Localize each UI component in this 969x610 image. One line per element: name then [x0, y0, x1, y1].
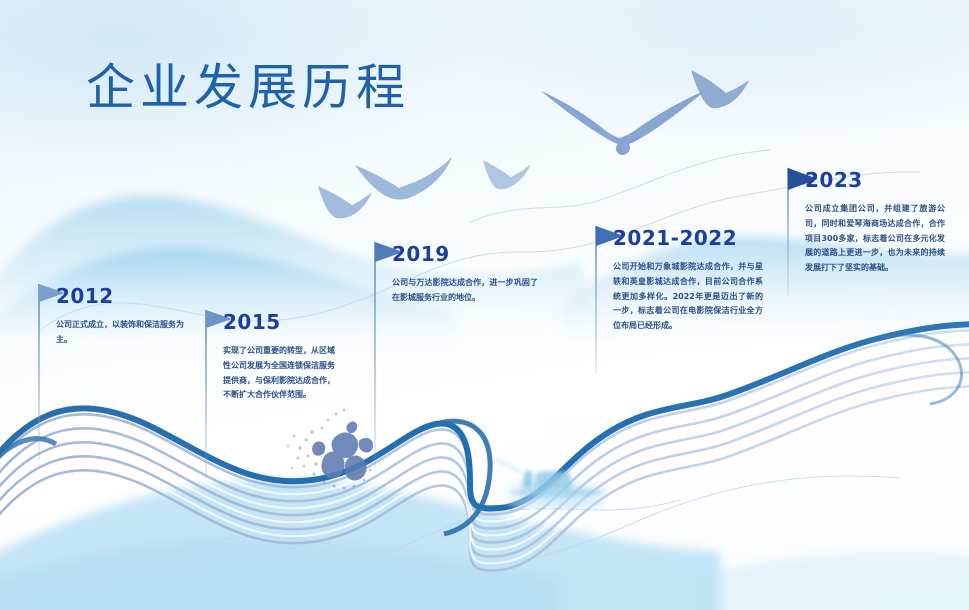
milestone-year: 2015: [223, 310, 281, 334]
milestone-year: 2021-2022: [613, 226, 737, 250]
seagull-large: [541, 90, 706, 155]
milestone-2012[interactable]: 2012 公司正式成立，以装饰和保洁服务为主。: [38, 284, 188, 348]
seagull-top-right: [691, 70, 749, 108]
milestone-2015[interactable]: 2015 实现了公司重要的转型，从区域性公司发展为全国连锁保洁服务提供商，与保利…: [205, 310, 355, 403]
milestone-year: 2023: [805, 168, 863, 192]
milestone-description: 公司成立集团公司，并组建了旅游公司，同时和爱琴海商场达成合作，合作项目300多家…: [805, 202, 945, 276]
milestone-year: 2019: [392, 242, 450, 266]
timeline-poster: 企业发展历程 2012 公司正式成立，以装饰和保洁服务为主。 2015 实现了公…: [0, 0, 969, 610]
milestone-2023[interactable]: 2023 公司成立集团公司，并组建了旅游公司，同时和爱琴海商场达成合作，合作项目…: [787, 168, 955, 276]
milestone-description: 公司与万达影院达成合作，进一步巩固了在影城服务行业的地位。: [392, 276, 538, 306]
milestone-2019[interactable]: 2019 公司与万达影院达成合作，进一步巩固了在影城服务行业的地位。: [374, 242, 544, 306]
seagull-medium-left: [355, 157, 452, 200]
particle-runner-icon: [287, 409, 375, 489]
milestone-description: 公司开始和万象城影院达成合作，并与星轶和英皇影城达成合作，目前公司合作系统更加多…: [613, 260, 763, 334]
mountain-wash-bottom-right: [700, 552, 969, 610]
milestone-description: 实现了公司重要的转型，从区域性公司发展为全国连锁保洁服务提供商，与保利影院达成合…: [223, 344, 335, 403]
mountain-wash-bottom: [0, 479, 720, 610]
seagull-small-center: [483, 160, 531, 189]
fishing-boat-icon: [494, 460, 614, 509]
milestone-description: 公司正式成立，以装饰和保洁服务为主。: [56, 318, 184, 348]
flowing-ribbon: [0, 324, 969, 570]
page-title: 企业发展历程: [86, 60, 410, 116]
milestone-2021-2022[interactable]: 2021-2022 公司开始和万象城影院达成合作，并与星轶和英皇影城达成合作，目…: [595, 226, 767, 334]
seagull-left-low: [318, 186, 372, 218]
milestone-year: 2012: [56, 284, 114, 308]
